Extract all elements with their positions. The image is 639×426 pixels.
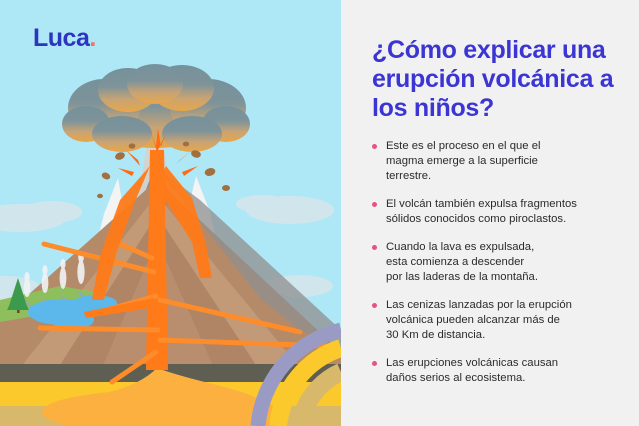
list-item: Este es el proceso en el que el magma em…: [372, 139, 617, 184]
list-item: El volcán también expulsa fragmentos sól…: [372, 197, 617, 227]
bullet-list: Este es el proceso en el que el magma em…: [372, 139, 617, 386]
list-item: Las cenizas lanzadas por la erupción vol…: [372, 298, 617, 343]
bullet-dot-icon: [372, 303, 377, 308]
list-item: Cuando la lava es expulsada, esta comien…: [372, 240, 617, 285]
bullet-dot-icon: [372, 245, 377, 250]
bullet-dot-icon: [372, 361, 377, 366]
bullet-dot-icon: [372, 144, 377, 149]
brand-dot: .: [89, 24, 95, 52]
list-item: Las erupciones volcánicas causan daños s…: [372, 356, 617, 386]
list-item-text: Cuando la lava es expulsada, esta comien…: [386, 240, 617, 285]
list-item-text: Las erupciones volcánicas causan daños s…: [386, 356, 617, 386]
brand-logo[interactable]: Luca.: [33, 26, 96, 51]
infographic-page: Luca. ¿Cómo explicar una erupción volcán…: [0, 0, 639, 426]
list-item-text: El volcán también expulsa fragmentos sól…: [386, 197, 617, 227]
list-item-text: Este es el proceso en el que el magma em…: [386, 139, 617, 184]
bullet-dot-icon: [372, 202, 377, 207]
list-item-text: Las cenizas lanzadas por la erupción vol…: [386, 298, 617, 343]
brand-name: Luca: [33, 24, 89, 52]
page-title: ¿Cómo explicar una erupción volcánica a …: [372, 36, 617, 123]
text-panel: ¿Cómo explicar una erupción volcánica a …: [341, 0, 639, 426]
volcano-diagram-svg: [0, 0, 341, 426]
volcano-illustration: Luca.: [0, 0, 341, 426]
